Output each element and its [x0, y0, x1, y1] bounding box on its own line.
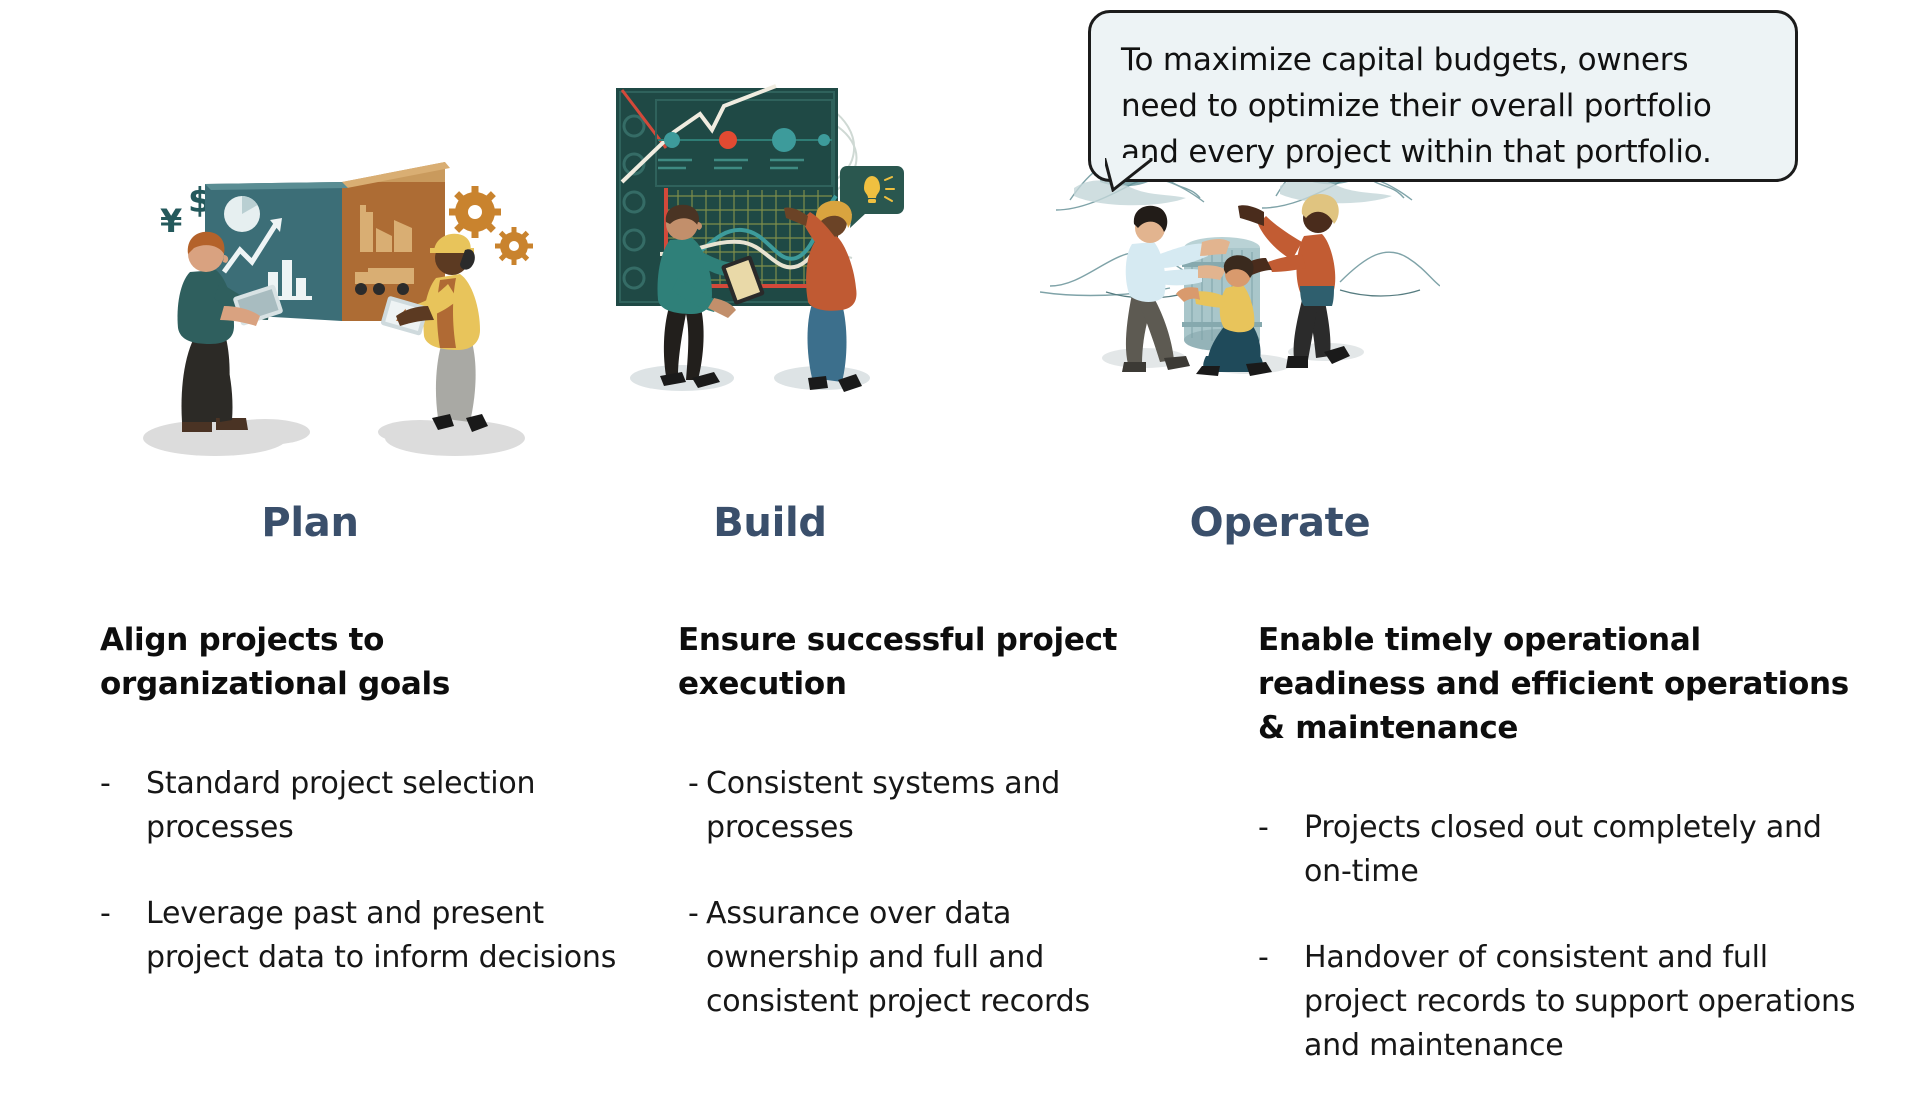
svg-text:¥: ¥	[160, 202, 182, 240]
column-heading-build: Ensure successful project execution	[678, 618, 1158, 706]
column-heading-operate: Enable timely operational readiness and …	[1258, 618, 1878, 750]
bullet-list-operate: - Projects closed out completely and on-…	[1258, 806, 1878, 1068]
list-item: - Handover of consistent and full projec…	[1258, 936, 1878, 1068]
list-item: - Consistent systems and processes	[688, 762, 1158, 850]
list-item: - Projects closed out completely and on-…	[1258, 806, 1878, 894]
list-item: - Leverage past and present project data…	[100, 892, 620, 980]
column-plan: Align projects to organizational goals -…	[100, 618, 620, 1022]
column-operate: Enable timely operational readiness and …	[1258, 618, 1878, 1110]
column-title-build: Build	[640, 500, 900, 546]
bullet-marker: -	[688, 892, 706, 1024]
plan-illustration: ¥ $ €	[120, 150, 560, 470]
column-build: Ensure successful project execution - Co…	[678, 618, 1158, 1066]
bullet-text: Standard project selection processes	[146, 762, 620, 850]
callout-text: To maximize capital budgets, owners need…	[1121, 37, 1765, 175]
slide-canvas: ¥ $ €	[0, 0, 1920, 1080]
bullet-text: Handover of consistent and full project …	[1304, 936, 1878, 1068]
list-item: - Standard project selection processes	[100, 762, 620, 850]
bullet-marker: -	[100, 762, 146, 850]
callout-tail	[1105, 158, 1153, 192]
column-title-operate: Operate	[1130, 500, 1430, 546]
column-title-plan: Plan	[180, 500, 440, 546]
build-illustration	[600, 78, 930, 408]
bullet-marker: -	[100, 892, 146, 980]
bullet-text: Assurance over data ownership and full a…	[706, 892, 1158, 1024]
bullet-list-build: - Consistent systems and processes - Ass…	[678, 762, 1158, 1024]
bullet-text: Consistent systems and processes	[706, 762, 1158, 850]
bullet-marker: -	[688, 762, 706, 850]
bullet-text: Projects closed out completely and on-ti…	[1304, 806, 1878, 894]
bullet-list-plan: - Standard project selection processes -…	[100, 762, 620, 980]
column-heading-plan: Align projects to organizational goals	[100, 618, 620, 706]
bullet-marker: -	[1258, 806, 1304, 894]
callout-box: To maximize capital budgets, owners need…	[1088, 10, 1798, 182]
bullet-marker: -	[1258, 936, 1304, 1068]
bullet-text: Leverage past and present project data t…	[146, 892, 620, 980]
list-item: - Assurance over data ownership and full…	[688, 892, 1158, 1024]
